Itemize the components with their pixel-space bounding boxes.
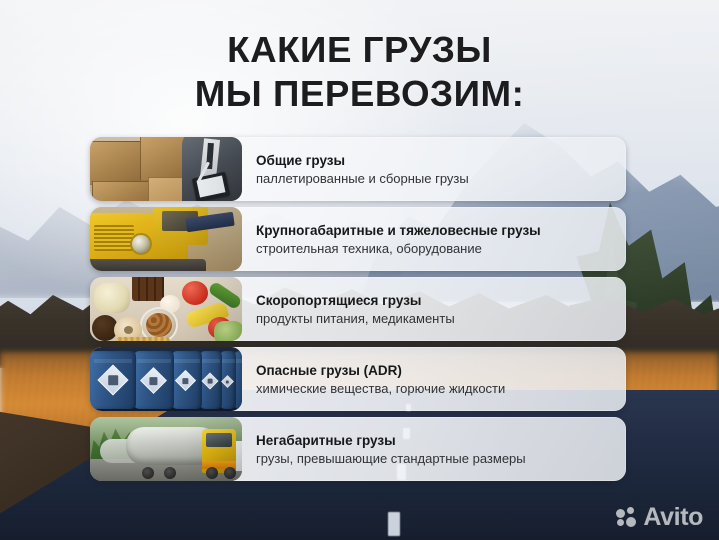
avito-wordmark: Avito xyxy=(643,505,703,530)
cardboard-box-icon xyxy=(90,141,144,185)
donut-hole xyxy=(124,326,133,334)
cargo-item-subtitle: химические вещества, горючие жидкости xyxy=(256,380,616,397)
cardboard-box-icon xyxy=(92,181,154,201)
cargo-item-oversized-heavy[interactable]: Крупногабаритные и тяжеловесные грузы ст… xyxy=(90,207,626,271)
cargo-thumbnail-general-cargo xyxy=(90,137,242,201)
machine-track xyxy=(90,259,206,271)
cargo-thumbnail-construction-machine xyxy=(90,207,242,271)
cargo-types-list: Общие грузы паллетированные и сборные гр… xyxy=(90,137,626,481)
cargo-thumbnail-food xyxy=(90,277,242,341)
thumb-haze xyxy=(90,417,242,481)
cargo-item-title: Крупногабаритные и тяжеловесные грузы xyxy=(256,222,616,239)
cargo-thumbnail-hazmat-barrels xyxy=(90,347,242,411)
avito-logo-icon xyxy=(616,507,637,528)
cauliflower-icon xyxy=(94,283,130,313)
machine-headlamp-icon xyxy=(130,233,152,255)
cargo-item-subtitle: продукты питания, медикаменты xyxy=(256,310,616,327)
cargo-item-out-of-gauge[interactable]: Негабаритные грузы грузы, превышающие ст… xyxy=(90,417,626,481)
cargo-item-title: Негабаритные грузы xyxy=(256,432,616,449)
title-line-2: МЫ ПЕРЕВОЗИМ: xyxy=(0,72,719,116)
cargo-item-general[interactable]: Общие грузы паллетированные и сборные гр… xyxy=(90,137,626,201)
cargo-item-text: Скоропортящиеся грузы продукты питания, … xyxy=(242,292,626,327)
cabbage-icon xyxy=(214,321,242,341)
cargo-thumbnail-oversized-truck xyxy=(90,417,242,481)
page-title: КАКИЕ ГРУЗЫ МЫ ПЕРЕВОЗИМ: xyxy=(0,28,719,116)
tomato-icon xyxy=(182,281,208,305)
cargo-types-poster: КАКИЕ ГРУЗЫ МЫ ПЕРЕВОЗИМ: Общие грузы xyxy=(0,0,719,540)
cargo-item-text: Негабаритные грузы грузы, превышающие ст… xyxy=(242,432,626,467)
cargo-item-title: Скоропортящиеся грузы xyxy=(256,292,616,309)
pasta-icon xyxy=(116,337,170,341)
cargo-item-subtitle: строительная техника, оборудование xyxy=(256,240,616,257)
cargo-item-dangerous-adr[interactable]: Опасные грузы (ADR) химические вещества,… xyxy=(90,347,626,411)
avito-watermark: Avito xyxy=(616,505,703,530)
cargo-item-perishable[interactable]: Скоропортящиеся грузы продукты питания, … xyxy=(90,277,626,341)
chocolate-bar-icon xyxy=(132,277,164,301)
title-line-1: КАКИЕ ГРУЗЫ xyxy=(0,28,719,72)
cargo-item-text: Опасные грузы (ADR) химические вещества,… xyxy=(242,362,626,397)
cargo-item-title: Опасные грузы (ADR) xyxy=(256,362,616,379)
cargo-item-subtitle: паллетированные и сборные грузы xyxy=(256,170,616,187)
cargo-item-title: Общие грузы xyxy=(256,152,616,169)
cargo-item-text: Общие грузы паллетированные и сборные гр… xyxy=(242,152,626,187)
nuts-icon xyxy=(146,313,172,337)
cargo-item-text: Крупногабаритные и тяжеловесные грузы ст… xyxy=(242,222,626,257)
machine-grille xyxy=(94,225,134,251)
cargo-item-subtitle: грузы, превышающие стандартные размеры xyxy=(256,450,616,467)
